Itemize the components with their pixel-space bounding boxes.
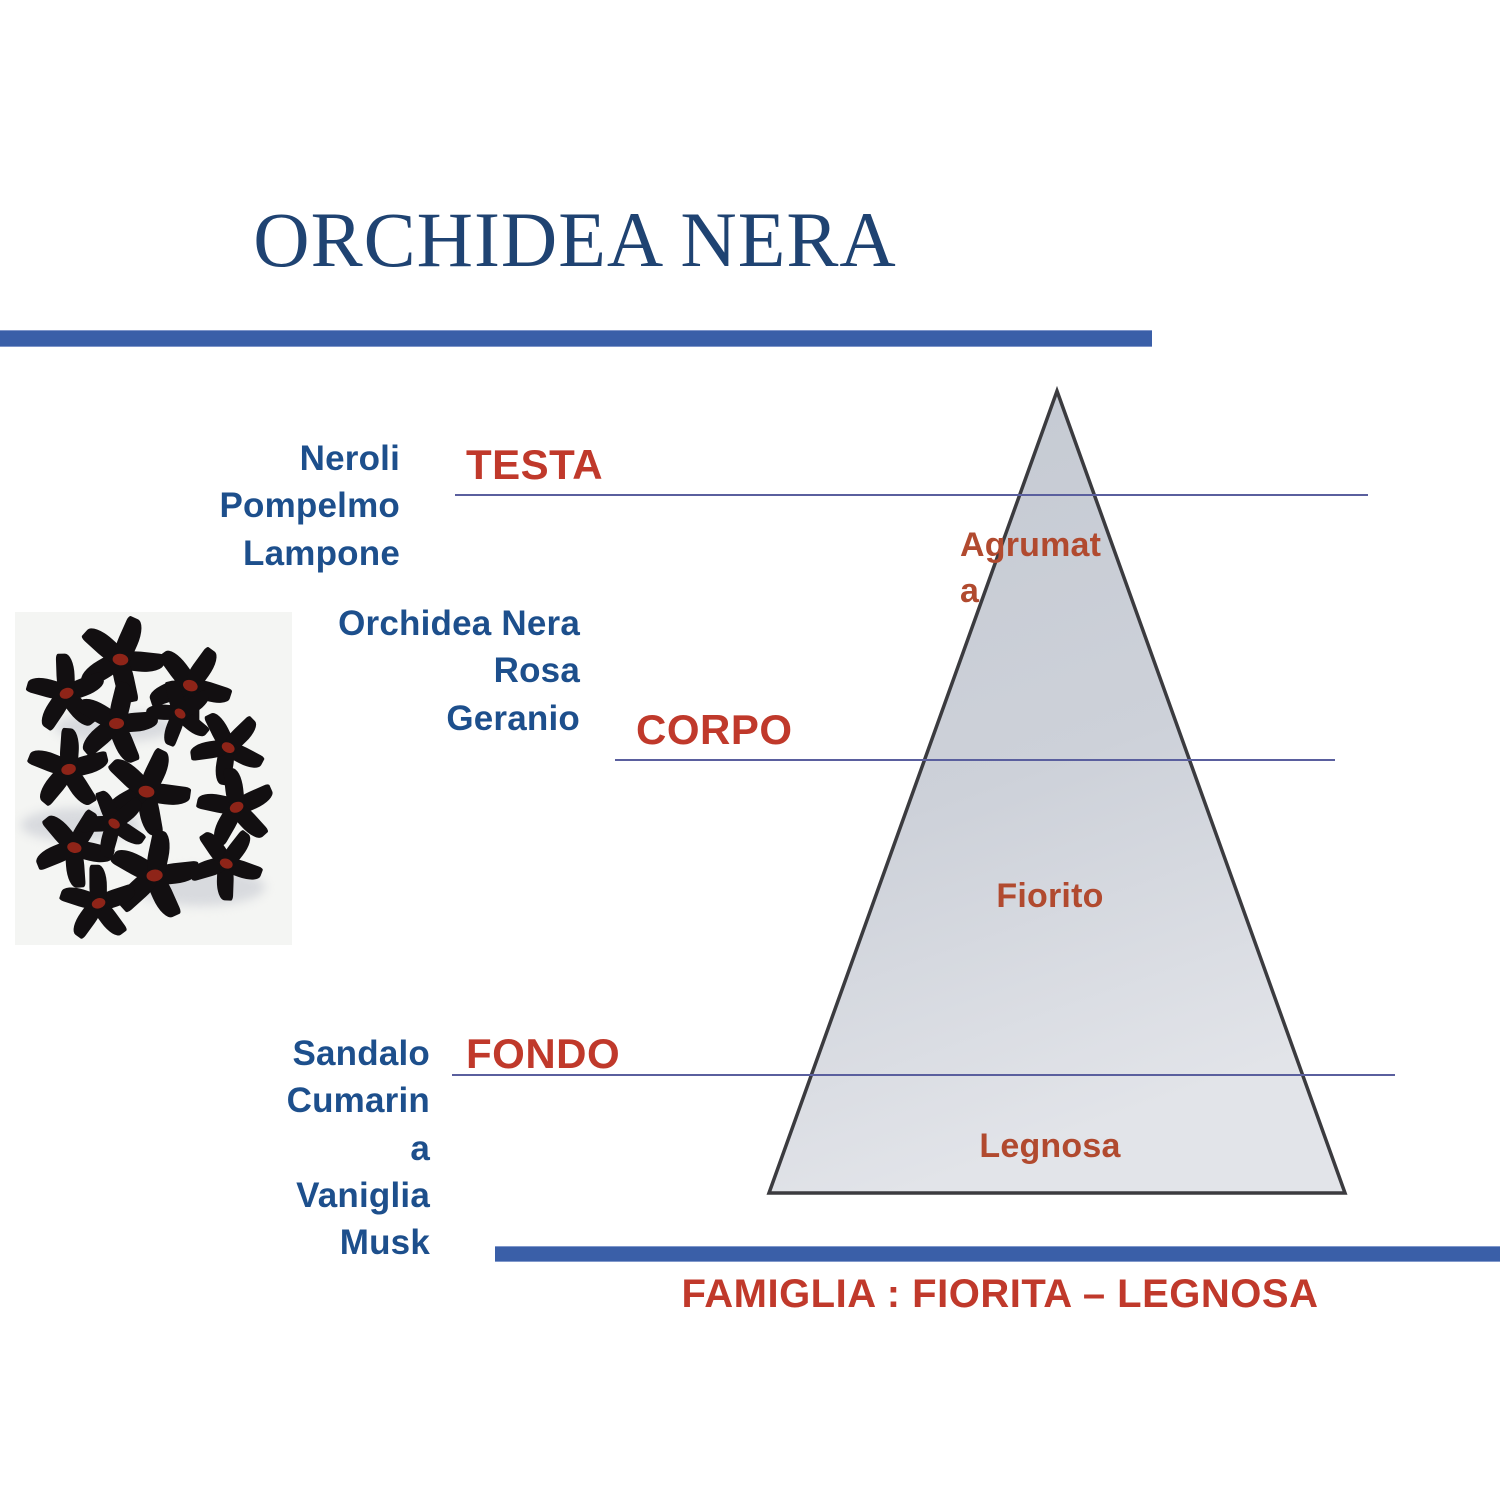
pyramid-label-agrumata: Agrumat a [960, 523, 1130, 615]
note-item: Neroli [100, 435, 400, 482]
note-item: Cumarin [150, 1077, 430, 1124]
page-title: ORCHIDEA NERA [0, 195, 1500, 285]
rule-testa [455, 494, 1368, 496]
bottom-divider-bar [495, 1246, 1500, 1262]
note-item: Musk [150, 1219, 430, 1266]
pyramid-label-line: Legnosa [900, 1124, 1200, 1170]
pyramid-label-line: a [960, 569, 1130, 615]
pyramid-label-legnosa: Legnosa [900, 1124, 1200, 1170]
fragrance-pyramid-graphic [745, 375, 1370, 1210]
note-item: Sandalo [150, 1030, 430, 1077]
rule-corpo [615, 759, 1335, 761]
note-item: Lampone [100, 530, 400, 577]
notes-list-fondo: Sandalo Cumarin a Vaniglia Musk [150, 1030, 430, 1266]
pyramid-label-line: Fiorito [900, 874, 1200, 920]
section-label-corpo: CORPO [636, 706, 793, 754]
pyramid-label-fiorito: Fiorito [900, 874, 1200, 920]
black-orchid-photo [15, 612, 292, 945]
section-label-fondo: FONDO [466, 1030, 620, 1078]
note-item: Vaniglia [150, 1172, 430, 1219]
top-divider-bar [0, 330, 1152, 347]
notes-list-testa: Neroli Pompelmo Lampone [100, 435, 400, 577]
slide-canvas: ORCHIDEA NERA TESTA CORPO FONDO Neroli P… [0, 0, 1500, 1500]
note-item: a [150, 1125, 430, 1172]
family-caption: FAMIGLIA : FIORITA – LEGNOSA [500, 1272, 1500, 1317]
pyramid-label-line: Agrumat [960, 523, 1130, 569]
section-label-testa: TESTA [466, 441, 603, 489]
note-item: Pompelmo [100, 482, 400, 529]
